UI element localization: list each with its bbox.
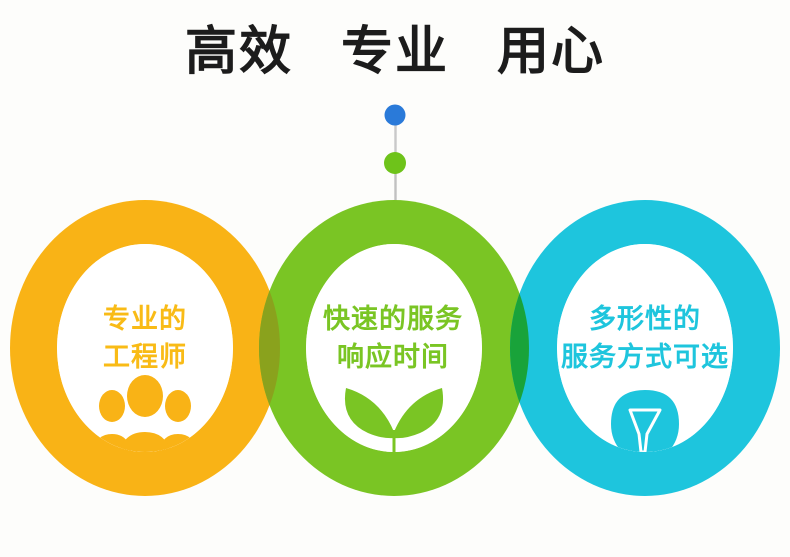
circle-label-response-time: 快速的服务 响应时间 [268, 300, 518, 377]
circle-label-engineers: 专业的 工程师 [20, 300, 270, 377]
circle-label-engineers-line-1: 专业的 [20, 300, 270, 338]
circle-label-service-modes-line-1: 多形性的 [510, 300, 780, 338]
circle-label-service-modes-line-2: 服务方式可选 [510, 338, 780, 376]
circle-labels-layer: 专业的 工程师 快速的服务 响应时间 多形性的 服务方式可选 [0, 0, 790, 557]
circle-label-response-time-line-1: 快速的服务 [268, 300, 518, 338]
circle-label-service-modes: 多形性的 服务方式可选 [510, 300, 780, 377]
infographic-root: 高效专业用心 [0, 0, 790, 557]
circle-label-engineers-line-2: 工程师 [20, 338, 270, 376]
circle-label-response-time-line-2: 响应时间 [268, 338, 518, 376]
